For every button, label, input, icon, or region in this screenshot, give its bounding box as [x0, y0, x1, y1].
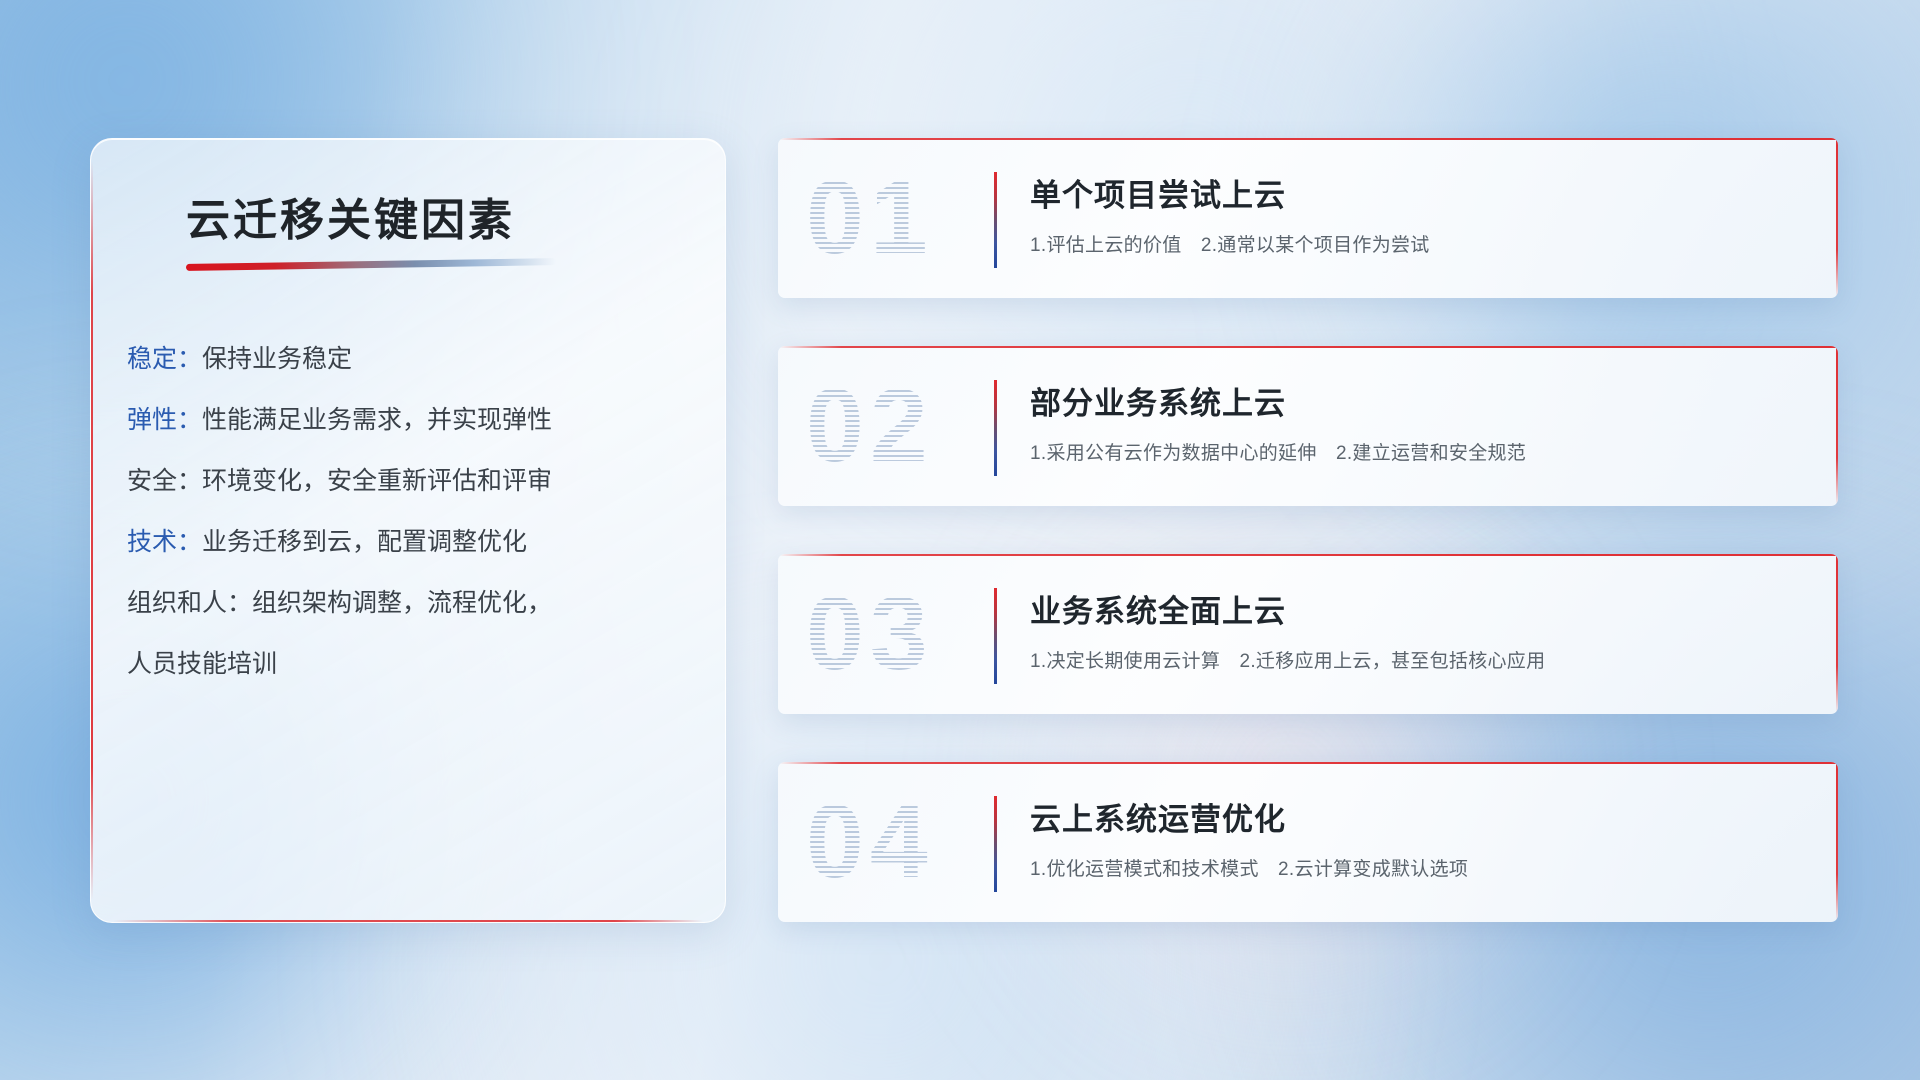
list-item-value: 性能满足业务需求，并实现弹性 — [202, 406, 552, 434]
list-item-label: 技术： — [127, 528, 202, 556]
list-item: 安全：环境变化，安全重新评估和评审 — [127, 451, 697, 512]
stage-number: 04 — [806, 776, 976, 908]
list-item-label: 安全： — [127, 467, 202, 495]
stage-description: 1.决定长期使用云计算 2.迁移应用上云，甚至包括核心应用 — [1030, 646, 1545, 673]
stage-description: 1.优化运营模式和技术模式 2.云计算变成默认选项 — [1030, 854, 1468, 881]
list-item: 技术：业务迁移到云，配置调整优化 — [127, 512, 697, 573]
stage-heading: 部分业务系统上云 — [1030, 378, 1286, 423]
stage-card-list: 01 单个项目尝试上云 1.评估上云的价值 2.通常以某个项目作为尝试 02 部… — [778, 138, 1838, 970]
list-item: 稳定：保持业务稳定 — [127, 329, 697, 390]
key-factors-panel: 云迁移关键因素 稳定：保持业务稳定 弹性：性能满足业务需求，并实现弹性 安全：环… — [90, 138, 726, 923]
card-divider — [994, 588, 997, 684]
stage-number: 01 — [806, 152, 976, 284]
list-item-value: 业务迁移到云，配置调整优化 — [202, 528, 527, 556]
list-item-label: 稳定： — [127, 345, 202, 373]
page-title: 云迁移关键因素 — [186, 184, 515, 248]
list-item: 组织和人：组织架构调整，流程优化， — [127, 573, 697, 634]
list-item-value: 人员技能培训 — [127, 650, 277, 678]
card-divider — [994, 380, 997, 476]
stage-number: 03 — [806, 568, 976, 700]
stage-heading: 业务系统全面上云 — [1030, 586, 1286, 631]
list-item: 弹性：性能满足业务需求，并实现弹性 — [127, 390, 697, 451]
list-item: 人员技能培训 — [127, 634, 697, 695]
stage-heading: 单个项目尝试上云 — [1030, 170, 1286, 215]
list-item-label: 弹性： — [127, 406, 202, 434]
stage-card[interactable]: 01 单个项目尝试上云 1.评估上云的价值 2.通常以某个项目作为尝试 — [778, 138, 1838, 298]
list-item-value: 环境变化，安全重新评估和评审 — [202, 467, 552, 495]
card-divider — [994, 172, 997, 268]
list-item-value: 保持业务稳定 — [202, 345, 352, 373]
stage-card[interactable]: 02 部分业务系统上云 1.采用公有云作为数据中心的延伸 2.建立运营和安全规范 — [778, 346, 1838, 506]
list-item-value: 组织架构调整，流程优化， — [252, 589, 552, 617]
key-factors-list: 稳定：保持业务稳定 弹性：性能满足业务需求，并实现弹性 安全：环境变化，安全重新… — [127, 329, 697, 695]
title-underline-rule — [186, 258, 556, 271]
stage-number: 02 — [806, 360, 976, 492]
stage-description: 1.采用公有云作为数据中心的延伸 2.建立运营和安全规范 — [1030, 438, 1526, 465]
stage-card[interactable]: 03 业务系统全面上云 1.决定长期使用云计算 2.迁移应用上云，甚至包括核心应… — [778, 554, 1838, 714]
card-divider — [994, 796, 997, 892]
stage-heading: 云上系统运营优化 — [1030, 794, 1286, 839]
list-item-label: 组织和人： — [127, 589, 252, 617]
stage-description: 1.评估上云的价值 2.通常以某个项目作为尝试 — [1030, 230, 1430, 257]
stage-card[interactable]: 04 云上系统运营优化 1.优化运营模式和技术模式 2.云计算变成默认选项 — [778, 762, 1838, 922]
